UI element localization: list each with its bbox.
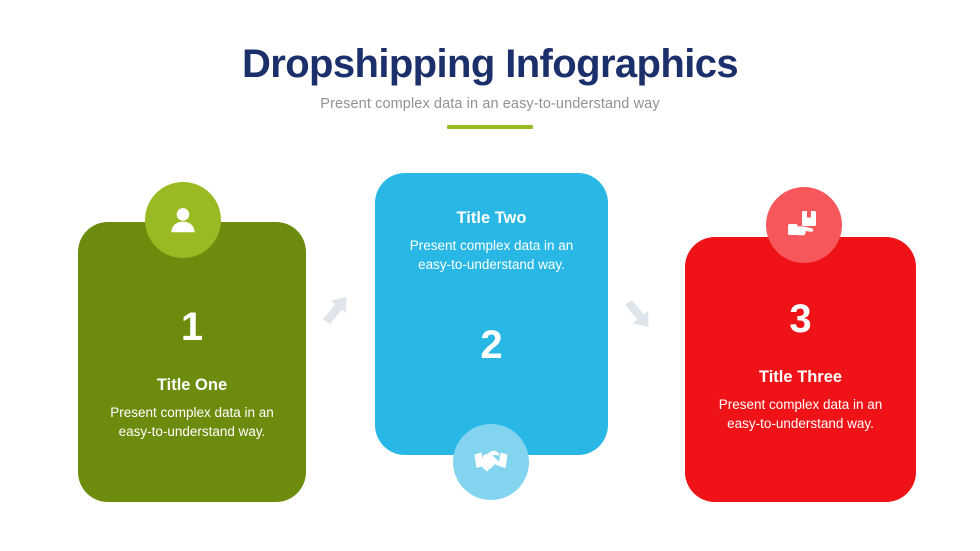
card-one-number: 1 (78, 307, 306, 347)
card-three-badge[interactable] (766, 187, 842, 263)
title-divider (447, 125, 533, 130)
card-one-title: Title One (157, 377, 227, 394)
card-two[interactable]: Title Two Present complex data in an eas… (375, 173, 608, 455)
card-three[interactable]: 3 Title Three Present complex data in an… (685, 237, 916, 502)
card-two-title: Title Two (457, 210, 527, 227)
person-icon (166, 203, 200, 237)
card-three-text: Title Three Present complex data in an e… (685, 369, 916, 433)
page-subtitle: Present complex data in an easy-to-under… (0, 96, 980, 112)
card-two-body: Present complex data in an easy-to-under… (392, 236, 592, 274)
header: Dropshipping Infographics Present comple… (0, 42, 980, 129)
arrow-up-right-icon (318, 292, 358, 337)
card-two-text: Title Two Present complex data in an eas… (375, 210, 608, 274)
card-two-badge[interactable] (453, 424, 529, 500)
card-two-number: 2 (375, 325, 608, 365)
card-three-title: Title Three (759, 369, 842, 386)
card-three-number: 3 (685, 299, 916, 339)
card-one[interactable]: 1 Title One Present complex data in an e… (78, 222, 306, 502)
card-one-badge[interactable] (145, 182, 221, 258)
card-one-text: Title One Present complex data in an eas… (78, 377, 306, 441)
handshake-icon (472, 447, 510, 477)
infographic-slide: Dropshipping Infographics Present comple… (0, 0, 980, 551)
hand-holding-bag-icon (785, 207, 823, 243)
card-three-body: Present complex data in an easy-to-under… (701, 395, 901, 433)
card-one-body: Present complex data in an easy-to-under… (92, 403, 292, 441)
page-title: Dropshipping Infographics (0, 42, 980, 87)
arrow-down-right-icon (620, 292, 660, 337)
